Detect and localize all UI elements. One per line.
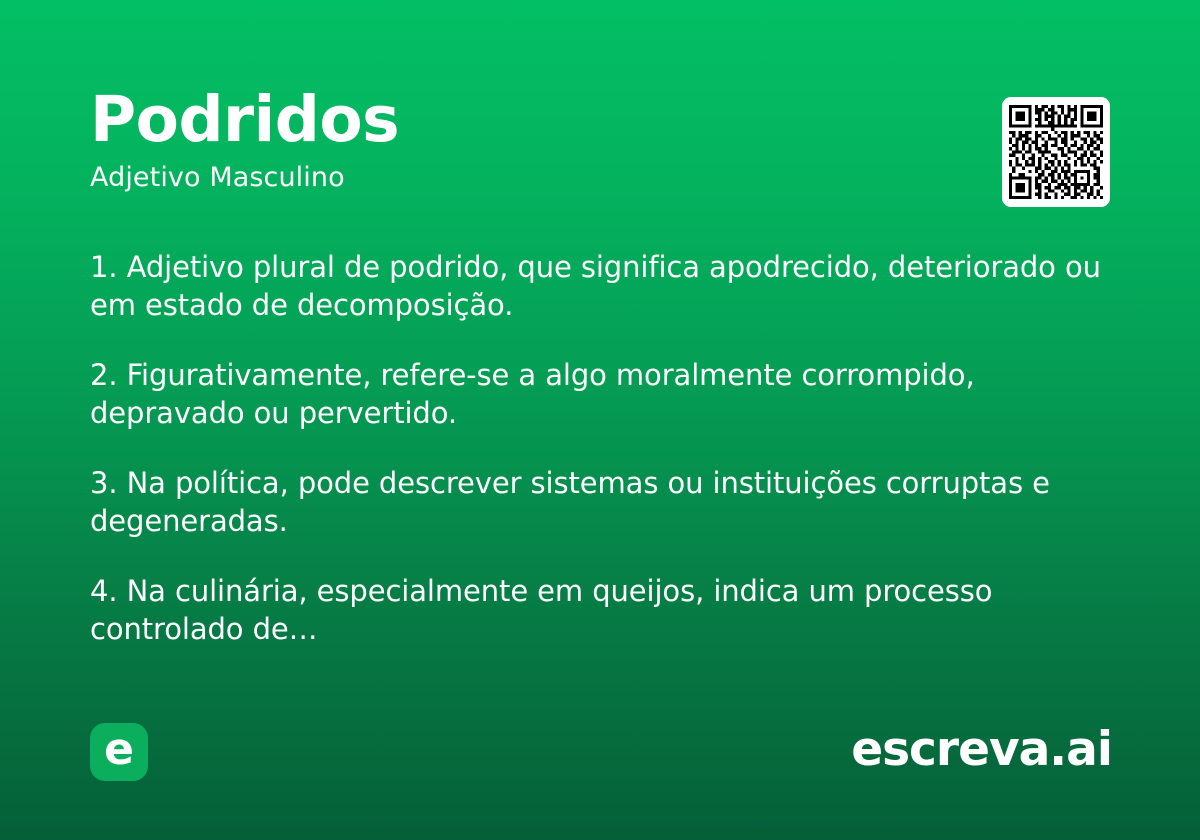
escreva-logo-icon: e [90, 723, 148, 781]
page-title: Podridos [90, 88, 970, 151]
definition-item-4: 4. Na culinária, especialmente em queijo… [90, 572, 1110, 648]
definition-item-2: 2. Figurativamente, refere-se a algo mor… [90, 356, 1110, 432]
card-header: Podridos Adjetivo Masculino [90, 88, 970, 193]
definition-item-1: 1. Adjetivo plural de podrido, que signi… [90, 248, 1110, 324]
qr-code-icon [1009, 104, 1103, 200]
brand-wordmark: escreva.ai [851, 724, 1112, 776]
qr-code-card[interactable] [1002, 97, 1110, 207]
definition-item-3: 3. Na política, pode descrever sistemas … [90, 464, 1110, 540]
definition-list: 1. Adjetivo plural de podrido, que signi… [90, 248, 1110, 648]
word-class-label: Adjetivo Masculino [90, 163, 970, 193]
definition-card: Podridos Adjetivo Masculino [0, 0, 1200, 840]
logo-letter: e [104, 728, 134, 772]
